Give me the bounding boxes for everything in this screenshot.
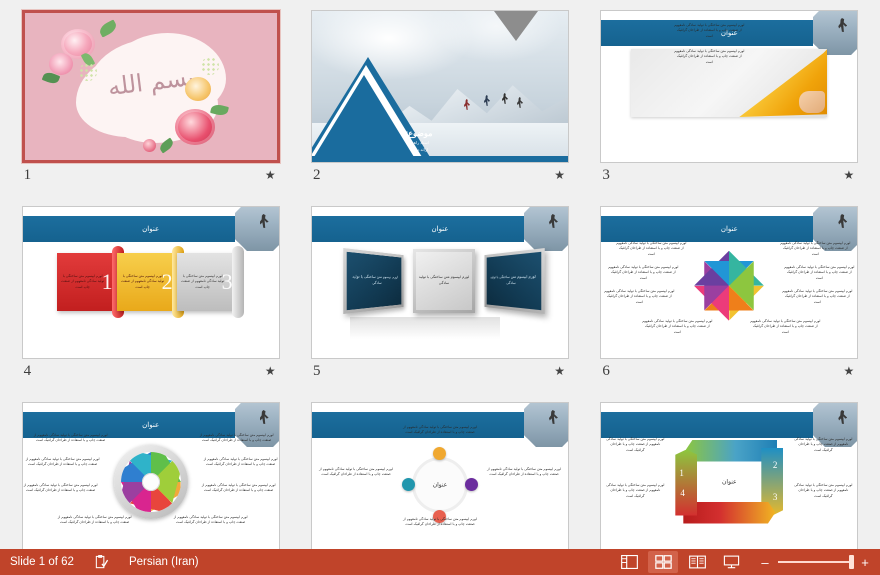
wheel-label-5: لورم ایپسوم متن ساختگی با تولید سادگی نا… — [201, 483, 277, 494]
status-bar: Slide 1 of 62 Persian (Iran) — [0, 549, 880, 575]
scroll-item-3: لورم ایپسوم متن ساختگی با تولید سادگی نا… — [177, 253, 239, 311]
arrow-number-3: 3 — [773, 492, 778, 502]
status-bar-right: – + — [612, 549, 880, 575]
pinwheel-label-4: لورم ایپسوم متن ساختگی با تولید سادگی نا… — [607, 265, 679, 281]
slide-3-meta: 3 ★ — [600, 163, 858, 187]
body-text-2: لورم ایپسوم متن ساختگی با تولید سادگی نا… — [673, 49, 745, 65]
animation-star-icon[interactable]: ★ — [265, 365, 276, 377]
slide-number: 4 — [24, 364, 32, 379]
corner-triangle — [524, 207, 568, 251]
cycle-center-label: عنوان — [433, 481, 448, 488]
wheel-label-3: لورم ایپسوم متن ساختگی با تولید سادگی نا… — [203, 457, 279, 468]
arrow-label-3: لورم ایپسوم متن ساختگی با تولید سادگی نا… — [793, 483, 853, 499]
wheel-segments — [121, 452, 181, 512]
slide-7-canvas: عنوان — [23, 403, 279, 554]
arrow-number-4: 4 — [680, 488, 685, 498]
slide-thumbnail-1[interactable]: بسم الله — [6, 8, 295, 204]
reading-view-icon[interactable] — [682, 551, 712, 573]
normal-view-icon[interactable] — [614, 551, 644, 573]
advisor-line: استاد راهنما — [364, 140, 474, 145]
slide-9-canvas: 1 2 3 4 عنوان لورم ایپسوم متن ساختگی با … — [601, 403, 857, 554]
slide-9-frame[interactable]: 1 2 3 4 عنوان لورم ایپسوم متن ساختگی با … — [600, 402, 858, 555]
blue-base-bar — [312, 156, 568, 162]
slide-number: 3 — [602, 168, 610, 183]
panel-group: لورم ایپسوم متن ساختگی با تولید سادگی لو… — [344, 249, 544, 313]
pinwheel-label-3: لورم ایپسوم متن ساختگی با تولید سادگی نا… — [783, 265, 855, 281]
slide-sorter-icon[interactable] — [648, 551, 678, 573]
slide-3-canvas: عنوان لورم ایپسوم متن ساختگی با تولید سا… — [601, 11, 857, 162]
panel-screen: لورم ایپسوم متن ساختگی با تولید سادگی — [487, 252, 542, 310]
slide-1-frame[interactable]: بسم الله — [22, 10, 280, 163]
slide-7-frame[interactable]: عنوان — [22, 402, 280, 555]
slide-2-canvas: موضوع: استاد راهنما ارائه دهنده — [312, 11, 568, 162]
slide-6-canvas: عنوان — [601, 207, 857, 358]
sprig-icon — [79, 63, 97, 81]
slide-number: 2 — [313, 168, 321, 183]
wheel-label-6: لورم ایپسوم متن ساختگی با تولید سادگی نا… — [23, 483, 99, 494]
arrow-number-1: 1 — [679, 468, 684, 478]
pinwheel-label-5: لورم ایپسوم متن ساختگی با تولید سادگی نا… — [781, 289, 853, 305]
slide-5-canvas: عنوان لورم ایپسوم متن ساختگی با تولید سا… — [312, 207, 568, 358]
scroll-number: 3 — [222, 269, 233, 295]
animation-star-icon[interactable]: ★ — [844, 169, 855, 181]
slide-2-text-block: موضوع: استاد راهنما ارائه دهنده — [364, 129, 474, 152]
pinwheel-diagram — [694, 250, 764, 320]
slide-counter[interactable]: Slide 1 of 62 — [0, 549, 84, 575]
slide-8-canvas: عنوان لورم ایپسوم متن ساختگی با تولید سا… — [312, 403, 568, 554]
panel-screen: لورم ایپسوم متن ساختگی با تولید سادگی — [416, 252, 472, 310]
animation-star-icon[interactable]: ★ — [554, 169, 565, 181]
slide-4-frame[interactable]: عنوان لورم ایپسوم متن ساختگی با تولید سا… — [22, 206, 280, 359]
slide-6-meta: 6 ★ — [600, 359, 858, 383]
flower-yellow — [185, 77, 211, 101]
leaf-icon — [97, 19, 118, 37]
slide-title: عنوان — [142, 421, 159, 429]
spellcheck-clipboard-icon[interactable] — [84, 549, 119, 575]
slide-thumbnail-4[interactable]: عنوان لورم ایپسوم متن ساختگی با تولید سا… — [6, 204, 295, 400]
sprig-icon — [201, 57, 219, 75]
corner-triangle — [235, 207, 279, 251]
language-indicator[interactable]: Persian (Iran) — [119, 549, 209, 575]
cycle-dot-top — [433, 447, 446, 460]
slide-4-canvas: عنوان لورم ایپسوم متن ساختگی با تولید سا… — [23, 207, 279, 358]
animation-star-icon[interactable]: ★ — [844, 365, 855, 377]
panel-text: لورم ایپسوم متن ساختگی با تولید سادگی — [418, 275, 470, 286]
flower-red-large — [175, 109, 215, 145]
slide-number: 6 — [602, 364, 610, 379]
slide-number: 1 — [24, 168, 32, 183]
scroll-number: 2 — [162, 269, 173, 295]
zoom-slider[interactable]: – + — [758, 556, 872, 569]
animation-star-icon[interactable]: ★ — [265, 169, 276, 181]
slide-5-meta: 5 ★ — [311, 359, 569, 383]
corner-triangle — [524, 403, 568, 447]
slide-thumbnail-3[interactable]: عنوان لورم ایپسوم متن ساختگی با تولید سا… — [585, 8, 874, 204]
wheel-label-8: لورم ایپسوم متن ساختگی با تولید سادگی نا… — [57, 515, 133, 526]
cycle-label-right: لورم ایپسوم متن ساختگی با تولید سادگی نا… — [318, 467, 394, 478]
wheel-label-4: لورم ایپسوم متن ساختگی با تولید سادگی نا… — [25, 457, 101, 468]
slide-row: عنوان لورم ایپسوم متن ساختگی با تولید سا… — [6, 204, 874, 400]
cycle-label-bottom: لورم ایپسوم متن ساختگی با تولید سادگی نا… — [402, 517, 478, 528]
slide-2-meta: 2 ★ — [311, 163, 569, 187]
scroll-text: لورم ایپسوم متن ساختگی با تولید سادگی نا… — [121, 274, 165, 290]
corner-photo-deco — [524, 403, 568, 447]
scroll-number: 1 — [102, 269, 113, 295]
color-wheel-diagram — [114, 445, 188, 519]
body-text-1: لورم ایپسوم متن ساختگی با تولید سادگی نا… — [673, 23, 745, 39]
panel-center: لورم ایپسوم متن ساختگی با تولید سادگی — [413, 249, 475, 313]
panel-text: لورم ایپسوم متن ساختگی با تولید سادگی — [490, 275, 537, 287]
slide-5-frame[interactable]: عنوان لورم ایپسوم متن ساختگی با تولید سا… — [311, 206, 569, 359]
slide-sorter-canvas[interactable]: بسم الله — [0, 0, 880, 549]
slide-thumbnail-5[interactable]: عنوان لورم ایپسوم متن ساختگی با تولید سا… — [295, 204, 584, 400]
zoom-out-button[interactable]: – — [758, 556, 772, 569]
slide-show-icon[interactable] — [716, 551, 746, 573]
zoom-handle[interactable] — [849, 555, 854, 569]
scroll-roll — [232, 246, 244, 318]
corner-photo-deco — [235, 207, 279, 251]
pinwheel-label-7: لورم ایپسوم متن ساختگی با تولید سادگی نا… — [749, 319, 821, 335]
flower-bud — [143, 139, 156, 152]
flower-pink-small — [49, 53, 73, 75]
slide-2-frame[interactable]: موضوع: استاد راهنما ارائه دهنده — [311, 10, 569, 163]
status-bar-left: Slide 1 of 62 Persian (Iran) — [0, 549, 209, 575]
panel-text: لورم ایپسوم متن ساختگی با تولید سادگی — [351, 275, 398, 287]
arrow-label-2: لورم ایپسوم متن ساختگی با تولید سادگی نا… — [605, 437, 665, 453]
slide-thumbnail-6[interactable]: عنوان — [585, 204, 874, 400]
slide-row: بسم الله — [6, 8, 874, 204]
panel-screen: لورم ایپسوم متن ساختگی با تولید سادگی — [347, 252, 402, 310]
scroll-item-2: لورم ایپسوم متن ساختگی با تولید سادگی نا… — [117, 253, 179, 311]
wheel-hub — [142, 473, 160, 491]
panel-right: لورم ایپسوم متن ساختگی با تولید سادگی — [485, 248, 545, 314]
pinwheel-label-2: لورم ایپسوم متن ساختگی با تولید سادگی نا… — [615, 241, 687, 257]
scroll-group: لورم ایپسوم متن ساختگی با تولید سادگی نا… — [57, 253, 237, 311]
panel-reflection — [350, 317, 500, 339]
arrow-cycle-center-label: عنوان — [722, 478, 737, 485]
arrow-label-4: لورم ایپسوم متن ساختگی با تولید سادگی نا… — [605, 483, 665, 499]
panel-left: لورم ایپسوم متن ساختگی با تولید سادگی — [343, 248, 403, 314]
arrow-number-2: 2 — [773, 460, 778, 470]
slide-number: 5 — [313, 364, 321, 379]
wheel-label-2: لورم ایپسوم متن ساختگی با تولید سادگی نا… — [33, 433, 109, 444]
slide-1-meta: 1 ★ — [22, 163, 280, 187]
arrow-label-1: لورم ایپسوم متن ساختگی با تولید سادگی نا… — [793, 437, 853, 453]
arrow-cycle-diagram: 1 2 3 4 عنوان — [675, 440, 783, 524]
cycle-dot-left — [402, 478, 415, 491]
corner-photo-deco — [524, 207, 568, 251]
pinwheel-label-1: لورم ایپسوم متن ساختگی با تولید سادگی نا… — [779, 241, 851, 257]
slide-title: عنوان — [142, 225, 159, 233]
scroll-text: لورم ایپسوم متن ساختگی با تولید سادگی نا… — [61, 274, 105, 290]
arrow-left — [675, 450, 697, 516]
wheel-label-7: لورم ایپسوم متن ساختگی با تولید سادگی نا… — [173, 515, 249, 526]
gray-triangle-deco — [494, 11, 538, 41]
cycle-label-left: لورم ایپسوم متن ساختگی با تولید سادگی نا… — [486, 467, 562, 478]
pinwheel-label-6: لورم ایپسوم متن ساختگی با تولید سادگی نا… — [603, 289, 675, 305]
leaf-icon — [210, 103, 229, 117]
subject-label: موضوع: — [364, 129, 474, 138]
animation-star-icon[interactable]: ★ — [554, 365, 565, 377]
slide-8-frame[interactable]: عنوان لورم ایپسوم متن ساختگی با تولید سا… — [311, 402, 569, 555]
wheel-label-1: لورم ایپسوم متن ساختگی با تولید سادگی نا… — [199, 433, 275, 444]
zoom-track[interactable] — [778, 561, 852, 563]
powerpoint-slide-sorter-window: بسم الله — [0, 0, 880, 575]
slide-thumbnail-2[interactable]: موضوع: استاد راهنما ارائه دهنده 2 ★ — [295, 8, 584, 204]
pinwheel-label-8: لورم ایپسوم متن ساختگی با تولید سادگی نا… — [641, 319, 713, 335]
slide-title: عنوان — [431, 225, 448, 233]
cycle-label-top: لورم ایپسوم متن ساختگی با تولید سادگی نا… — [402, 425, 478, 436]
slide-3-frame[interactable]: عنوان لورم ایپسوم متن ساختگی با تولید سا… — [600, 10, 858, 163]
scroll-item-1: لورم ایپسوم متن ساختگی با تولید سادگی نا… — [57, 253, 119, 311]
cycle-dot-right — [465, 478, 478, 491]
zoom-in-button[interactable]: + — [858, 556, 872, 569]
leaf-icon — [157, 138, 174, 154]
slide-1-canvas: بسم الله — [25, 13, 277, 160]
slide-6-frame[interactable]: عنوان — [600, 206, 858, 359]
slide-4-meta: 4 ★ — [22, 359, 280, 383]
presenter-line: ارائه دهنده — [364, 147, 474, 152]
scroll-text: لورم ایپسوم متن ساختگی با تولید سادگی نا… — [181, 274, 225, 290]
hand-graphic — [799, 91, 825, 113]
slide-title: عنوان — [721, 225, 738, 233]
